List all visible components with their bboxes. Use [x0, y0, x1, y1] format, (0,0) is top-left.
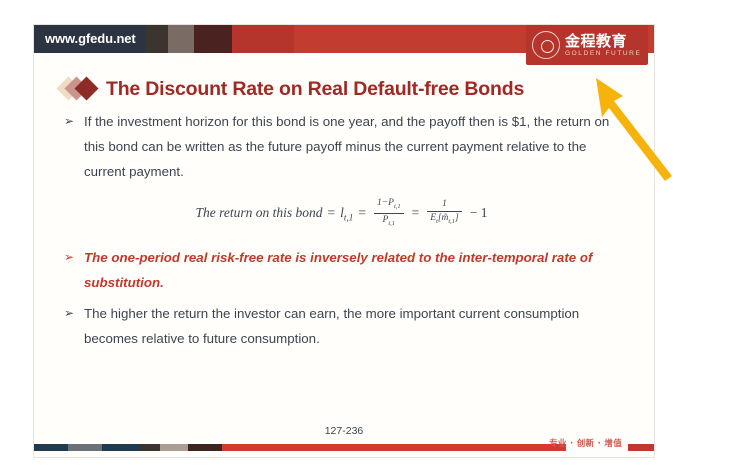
topbar-segment: [232, 25, 294, 53]
bullet-text: The one-period real risk-free rate is in…: [84, 245, 620, 295]
footer-segment: [222, 444, 566, 451]
slide-title-row: The Discount Rate on Real Default-free B…: [34, 73, 654, 105]
logo-chinese-name: 金程教育: [565, 33, 641, 49]
formula-fraction-one: 1−Pt,1 Pt,1: [374, 198, 404, 229]
bullet-item: ➢ The higher the return the investor can…: [34, 301, 654, 351]
formula-lhs-symbol: lt,1: [340, 205, 353, 223]
footer-segment: [68, 444, 102, 451]
topbar-segment: [168, 25, 194, 53]
formula-fraction-two: 1 Et[m̃t,1]: [427, 199, 462, 227]
logo-text-group: 金程教育 GOLDEN FUTURE: [565, 33, 641, 58]
footer-segment: [188, 444, 222, 451]
footer-segment: [34, 444, 68, 451]
formula-equals: =: [358, 205, 366, 221]
footer-segment: [140, 444, 160, 451]
formula-lead-text: The return on this bond: [196, 205, 323, 221]
footer-segment: [102, 444, 140, 451]
slide-body: ➢ If the investment horizon for this bon…: [34, 109, 654, 357]
fraction-numerator: 1−Pt,1: [374, 198, 404, 213]
presentation-slide: www.gfedu.net 金程教育 GOLDEN FUTURE The Dis…: [33, 24, 655, 458]
formula-equals: =: [328, 205, 336, 221]
bullet-marker-icon: ➢: [64, 301, 84, 351]
formula-equals: =: [412, 205, 420, 221]
bullet-text: The higher the return the investor can e…: [84, 301, 620, 351]
return-formula: The return on this bond = lt,1 = 1−Pt,1 …: [34, 198, 654, 229]
bullet-item-highlighted: ➢ The one-period real risk-free rate is …: [34, 245, 654, 295]
bullet-text: If the investment horizon for this bond …: [84, 109, 620, 184]
diamond-bullet-icon: [60, 76, 106, 102]
page-title: The Discount Rate on Real Default-free B…: [106, 78, 524, 101]
topbar-segment: [146, 25, 168, 53]
page-number: 127-236: [34, 425, 654, 437]
footer-segment: [160, 444, 188, 451]
company-logo-badge: 金程教育 GOLDEN FUTURE: [526, 25, 648, 65]
formula-minus-one: − 1: [470, 205, 488, 221]
company-tagline: 专业 · 创新 · 增值: [549, 437, 622, 449]
website-url-label: www.gfedu.net: [34, 25, 146, 53]
circular-seal-icon: [532, 31, 560, 59]
bullet-item: ➢ If the investment horizon for this bon…: [34, 109, 654, 184]
fraction-numerator: 1: [439, 199, 450, 211]
bullet-marker-icon: ➢: [64, 245, 84, 295]
fraction-denominator: Pt,1: [380, 214, 398, 229]
footer-segment: [628, 444, 654, 451]
logo-english-name: GOLDEN FUTURE: [565, 49, 641, 58]
bullet-marker-icon: ➢: [64, 109, 84, 184]
fraction-denominator: Et[m̃t,1]: [427, 212, 462, 227]
topbar-segment: [194, 25, 232, 53]
